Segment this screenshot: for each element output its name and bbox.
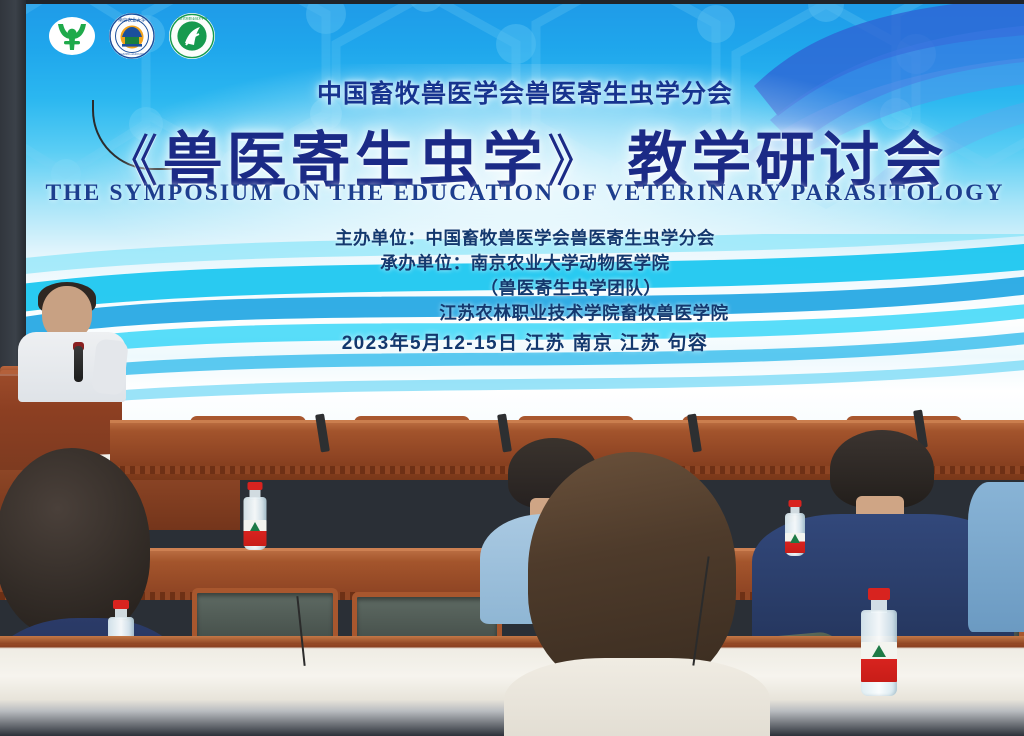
bottle-cap xyxy=(113,600,129,609)
bottle-cap xyxy=(248,482,263,490)
led-backdrop-banner: 中国畜牧兽医学会兽医寄生虫学分会 《兽医寄生虫学》 教学研讨会 THE SYMP… xyxy=(26,4,1024,434)
credits-block: 主办单位：中国畜牧兽医学会兽医寄生虫学分会 承办单位：南京农业大学动物医学院 （… xyxy=(26,226,1024,326)
bottle-cap xyxy=(789,500,802,507)
bottle-cap xyxy=(868,588,890,600)
date-location-line: 2023年5月12-15日 江苏 南京 江苏 句容 xyxy=(26,328,1024,355)
water-bottle-back-row xyxy=(240,482,270,550)
credit-line-team: （兽医寄生虫学团队） xyxy=(26,276,1024,301)
attendee-blue-shirt-right xyxy=(968,482,1024,632)
bottle-leaf-icon xyxy=(872,645,886,657)
bottle-leaf-icon xyxy=(250,522,260,531)
english-subtitle: THE SYMPOSIUM ON THE EDUCATION OF VETERI… xyxy=(26,180,1024,207)
attendee-clothing xyxy=(504,658,770,736)
conference-photo: 中国畜牧兽医学会兽医寄生虫学分会 《兽医寄生虫学》 教学研讨会 THE SYMP… xyxy=(0,0,1024,736)
attendee-clothing xyxy=(968,482,1024,632)
organizer-headline: 中国畜牧兽医学会兽医寄生虫学分会 xyxy=(26,74,1024,110)
credit-line-host: 承办单位：南京农业大学动物医学院 xyxy=(26,251,1024,276)
water-bottle-mid xyxy=(782,500,808,556)
credit-line-organizer: 主办单位：中国畜牧兽医学会兽医寄生虫学分会 xyxy=(26,226,1024,251)
bottle-leaf-icon xyxy=(790,534,800,543)
credit-line-cohost: 江苏农林职业技术学院畜牧兽医学院 xyxy=(26,301,1024,326)
banner-text-block: 中国畜牧兽医学会兽医寄生虫学分会 《兽医寄生虫学》 教学研讨会 THE SYMP… xyxy=(26,4,1024,434)
water-bottle-front-desk xyxy=(856,588,902,696)
attendee-long-hair-white-top xyxy=(520,452,780,736)
